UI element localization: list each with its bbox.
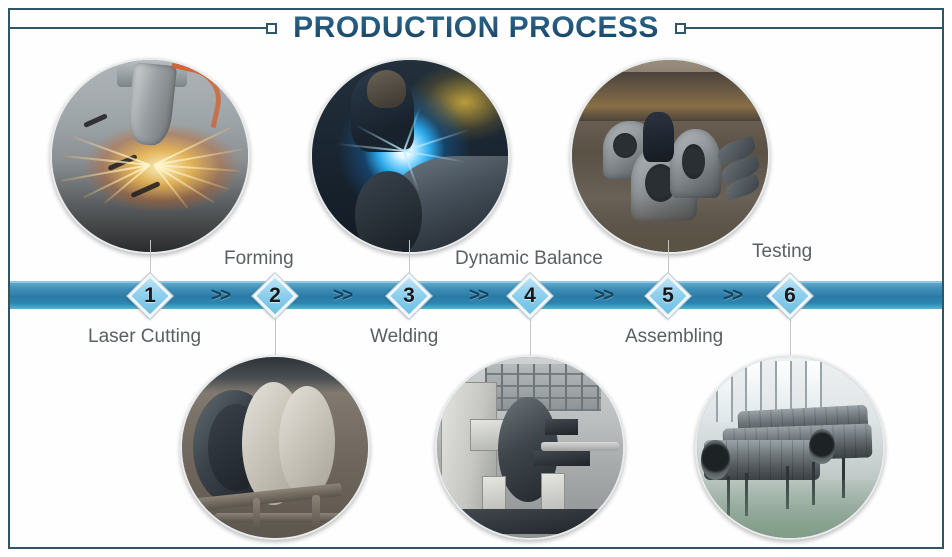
clamp-arm [545,419,578,435]
connector-stem-1 [150,240,151,278]
step-separator: >> [458,283,498,309]
spark [153,164,214,203]
assembling-photo [570,58,770,254]
header-square-right-icon [675,23,686,34]
rolled-cylinder-light [279,386,335,498]
step-number: 4 [510,276,550,316]
step-marker-2[interactable]: 2 [255,276,295,316]
step-separator: >> [322,283,362,309]
step-number: 3 [389,276,429,316]
housing-inlet [613,133,637,158]
step-label-assembling: Assembling [625,326,723,348]
background-rack [572,72,768,122]
balance-shaft [541,442,619,451]
step-marker-4[interactable]: 4 [510,276,550,316]
forming-image [182,357,368,538]
step-label-welding: Welding [370,326,438,348]
step-label-testing: Testing [752,241,812,263]
header: PRODUCTION PROCESS [8,8,944,48]
arc-ray [404,128,472,152]
duct-opening [809,429,835,463]
machine-base [456,509,605,534]
welded-drum-second [355,171,422,254]
cut-slot [83,113,108,128]
housing-inlet [682,144,706,179]
step-label-forming: Forming [224,248,294,270]
step-number: 5 [648,276,688,316]
factory-floor [572,198,768,252]
connector-stem-6 [790,312,791,358]
forming-photo [180,355,370,540]
connector-stem-2 [275,312,276,358]
clamp-arm [534,451,590,465]
header-square-left-icon [266,23,277,34]
test-room-floor [697,480,883,538]
step-marker-1[interactable]: 1 [130,276,170,316]
step-separator: >> [200,283,240,309]
step-separator: >> [712,283,752,309]
dynamic-balance-photo [435,355,625,540]
step-label-dynamic-balance: Dynamic Balance [455,248,603,270]
machine-frame [253,498,260,531]
assembling-image [572,60,768,252]
welding-photo [310,58,510,254]
connector-stem-3 [409,240,410,278]
connector-stem-5 [668,240,669,278]
step-number: 6 [770,276,810,316]
laser-cutting-image [52,60,248,252]
window-pane [716,361,733,423]
laser-cutting-photo [50,58,250,254]
step-marker-5[interactable]: 5 [648,276,688,316]
testing-photo [695,355,885,540]
header-rule-left [8,27,266,29]
machine-frame [312,495,319,531]
cut-slot [131,181,162,198]
step-marker-6[interactable]: 6 [770,276,810,316]
production-process-infographic: PRODUCTION PROCESS [0,0,952,557]
header-rule-right [686,27,944,29]
dynamic-balance-image [437,357,623,538]
step-number: 1 [130,276,170,316]
machine-rail [215,513,345,522]
step-label-laser-cutting: Laser Cutting [88,326,201,348]
cutting-hose [161,62,227,127]
testing-image [697,357,883,538]
step-number: 2 [255,276,295,316]
welding-image [312,60,508,252]
connector-stem-4 [530,312,531,358]
step-marker-3[interactable]: 3 [389,276,429,316]
assembly-worker [643,112,674,162]
page-title: PRODUCTION PROCESS [277,11,675,45]
welder-helmet [367,70,406,108]
step-separator: >> [583,283,623,309]
